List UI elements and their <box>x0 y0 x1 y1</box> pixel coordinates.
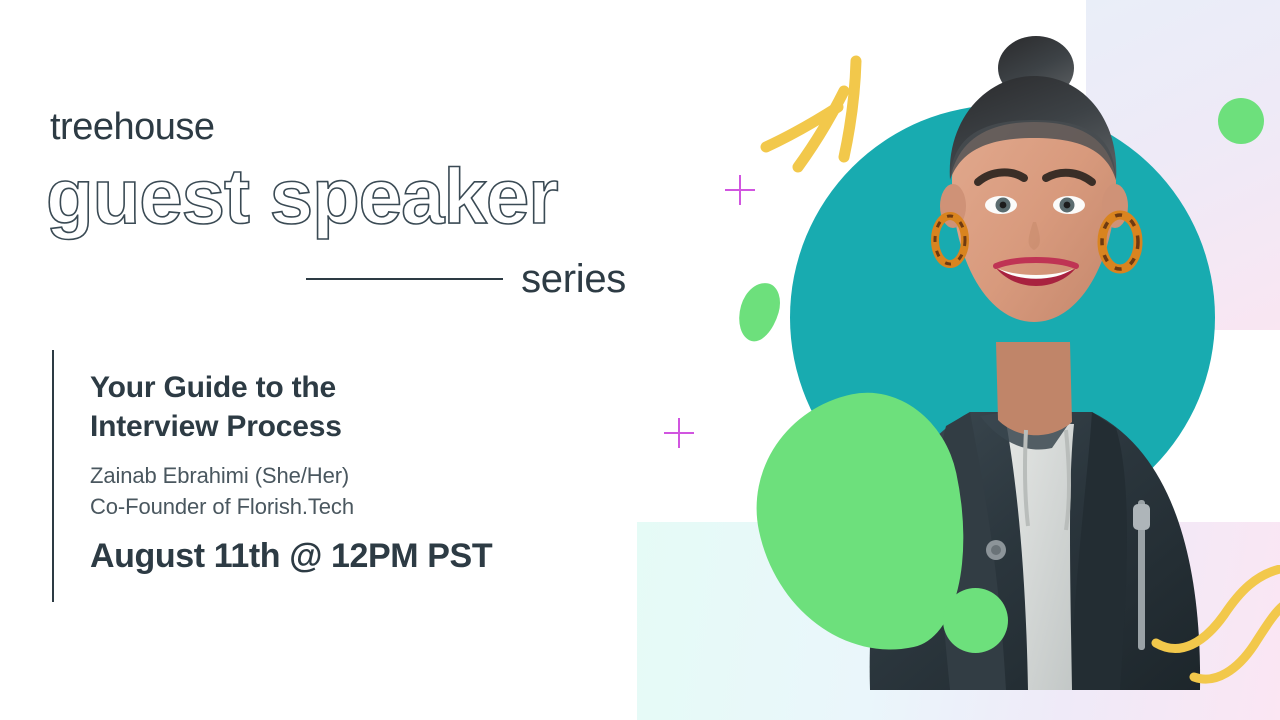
talk-title-line-1: Your Guide to the <box>90 368 342 407</box>
plus-mark-icon <box>725 175 755 205</box>
event-datetime: August 11th @ 12PM PST <box>90 538 492 575</box>
speaker-block: Zainab Ebrahimi (She/Her) Co-Founder of … <box>90 460 354 522</box>
green-circle-small-icon <box>943 588 1008 653</box>
series-label-row: series <box>306 256 626 302</box>
talk-title: Your Guide to the Interview Process <box>90 368 342 446</box>
plus-mark-icon <box>664 418 694 448</box>
series-divider-rule <box>306 278 503 280</box>
green-blob-small-icon <box>732 278 785 346</box>
promo-slide: treehouse guest speaker series Your Guid… <box>0 0 1280 720</box>
guest-speaker-headline: guest speaker <box>46 156 558 238</box>
speaker-role: Co-Founder of Florish.Tech <box>90 491 354 522</box>
talk-title-line-2: Interview Process <box>90 407 342 446</box>
yellow-wavy-lines-icon <box>1150 565 1280 685</box>
vertical-accent-bar <box>52 350 54 602</box>
series-label: series <box>521 259 626 299</box>
speaker-name: Zainab Ebrahimi (She/Her) <box>90 460 354 491</box>
treehouse-wordmark: treehouse <box>50 108 215 146</box>
